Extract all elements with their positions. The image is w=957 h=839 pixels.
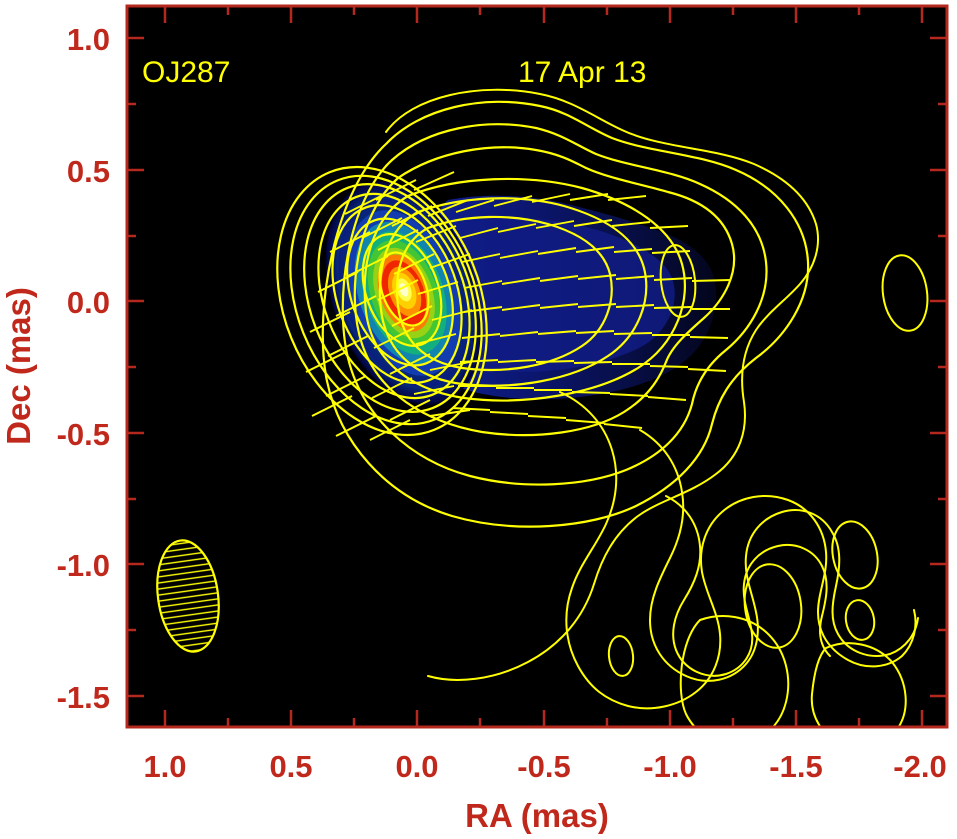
- y-tick-label: -1.5: [57, 680, 110, 715]
- x-tick-label: 1.0: [143, 749, 186, 784]
- y-tick-label: 1.0: [67, 22, 110, 57]
- x-tick-label: -0.5: [517, 749, 570, 784]
- figure-root: OJ287 17 Apr 13 1.0 0.5 0.0 -0.5 -1.0 -1…: [0, 0, 957, 839]
- y-axis-title: Dec (mas): [0, 287, 37, 445]
- vlbi-map-figure: OJ287 17 Apr 13 1.0 0.5 0.0 -0.5 -1.0 -1…: [0, 0, 957, 839]
- source-label: OJ287: [142, 56, 230, 89]
- x-tick-label: 0.5: [269, 749, 312, 784]
- y-tick-label: 0.5: [67, 154, 110, 189]
- y-tick-label: -1.0: [57, 548, 110, 583]
- x-tick-label: -1.0: [643, 749, 696, 784]
- x-tick-label: -1.5: [769, 749, 822, 784]
- epoch-label: 17 Apr 13: [518, 56, 646, 89]
- x-tick-label: 0.0: [395, 749, 438, 784]
- x-axis-title: RA (mas): [465, 797, 609, 834]
- x-tick-label: -2.0: [893, 749, 946, 784]
- y-tick-label: -0.5: [57, 417, 110, 452]
- y-tick-label: 0.0: [67, 285, 110, 320]
